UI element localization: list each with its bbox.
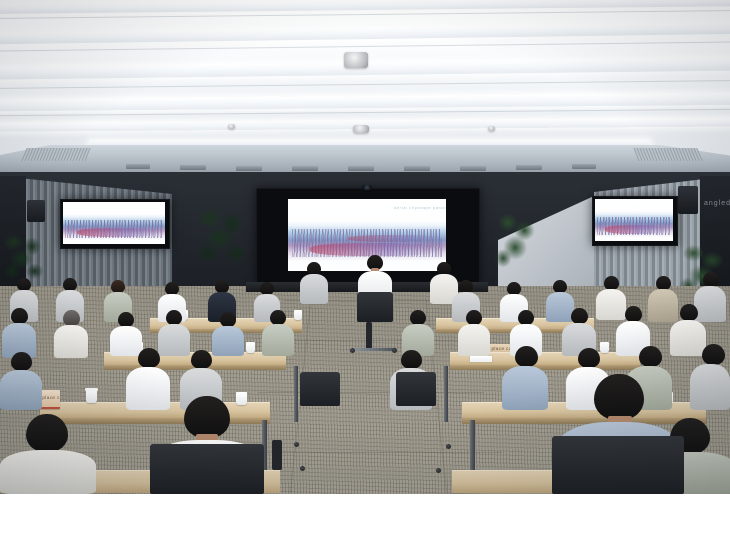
right-display-screen[interactable] bbox=[595, 199, 673, 241]
ceiling-sprinkler-right bbox=[488, 126, 495, 131]
ceiling-vent-left bbox=[21, 148, 90, 161]
right-plant-icon bbox=[494, 208, 540, 274]
head bbox=[138, 348, 160, 368]
attendee-r3-10 bbox=[54, 310, 88, 358]
left-display-screen[interactable] bbox=[63, 202, 165, 244]
attendee-r1-2 bbox=[300, 262, 328, 304]
main-display-highway bbox=[348, 235, 444, 242]
ceiling-smoke-detector bbox=[344, 52, 368, 68]
ceiling-sprinkler-left bbox=[228, 124, 235, 129]
head bbox=[118, 312, 134, 327]
right-display-river bbox=[605, 225, 667, 234]
conference-room-photo: aerial cityscape panorama over water ang… bbox=[0, 0, 730, 494]
slot-diffuser-4 bbox=[292, 166, 318, 171]
head bbox=[703, 272, 719, 287]
attendee-r5-3 bbox=[0, 414, 96, 494]
left-display-river bbox=[77, 228, 159, 237]
attendee-r4-5 bbox=[502, 346, 548, 410]
slot-diffuser-6 bbox=[404, 166, 430, 171]
chair-caster bbox=[350, 348, 355, 353]
head bbox=[11, 352, 32, 371]
attendee-r4-1 bbox=[0, 352, 42, 410]
cup bbox=[86, 390, 97, 403]
head bbox=[220, 312, 236, 327]
slot-diffuser-7 bbox=[460, 166, 486, 171]
head bbox=[401, 350, 422, 369]
desk-caster bbox=[294, 442, 299, 447]
torso bbox=[0, 370, 42, 410]
head bbox=[625, 306, 642, 322]
head bbox=[191, 350, 212, 369]
head bbox=[11, 308, 28, 324]
head bbox=[680, 304, 698, 321]
slot-diffuser-3 bbox=[236, 166, 262, 171]
chair[interactable] bbox=[552, 436, 684, 494]
chair[interactable] bbox=[300, 372, 340, 406]
desk-caster bbox=[446, 444, 451, 449]
torso bbox=[458, 324, 490, 356]
head bbox=[578, 348, 600, 368]
head bbox=[571, 308, 588, 324]
torso bbox=[690, 364, 730, 410]
handout bbox=[470, 356, 492, 362]
slot-diffuser-5 bbox=[348, 166, 374, 171]
slot-diffuser-9 bbox=[572, 164, 596, 169]
chair[interactable] bbox=[396, 372, 436, 406]
chair-caster bbox=[300, 466, 305, 471]
presenter-chair-base bbox=[366, 322, 372, 350]
torso bbox=[502, 366, 548, 410]
desk-leg bbox=[444, 366, 448, 422]
chair[interactable] bbox=[150, 444, 264, 494]
cup-lid bbox=[85, 388, 98, 391]
cup bbox=[294, 310, 302, 320]
page-background bbox=[0, 494, 730, 548]
desk-leg bbox=[294, 366, 298, 422]
presenter-chair[interactable] bbox=[357, 292, 393, 322]
head bbox=[63, 310, 80, 326]
screen-camera-icon bbox=[362, 185, 372, 190]
torso bbox=[262, 324, 294, 356]
attendee-r3-11 bbox=[2, 308, 36, 358]
ceiling-vent-right bbox=[633, 148, 702, 161]
right-wall-speaker bbox=[678, 186, 698, 214]
head bbox=[639, 346, 662, 367]
slot-diffuser-2 bbox=[180, 165, 206, 170]
head bbox=[166, 310, 182, 325]
slot-diffuser-8 bbox=[516, 165, 542, 170]
head bbox=[410, 310, 426, 325]
head bbox=[518, 310, 534, 325]
torso bbox=[54, 325, 88, 358]
head bbox=[515, 346, 538, 367]
head bbox=[594, 374, 644, 420]
main-display-watermark: aerial cityscape panorama over water bbox=[394, 205, 446, 210]
cup bbox=[246, 342, 255, 353]
ceiling-projector-mount bbox=[353, 125, 369, 133]
head bbox=[702, 344, 725, 365]
screenshot-root: aerial cityscape panorama over water ang… bbox=[0, 0, 730, 548]
attendee-r3-6 bbox=[458, 310, 490, 356]
head bbox=[604, 276, 619, 290]
attendee-r4-8 bbox=[690, 344, 730, 410]
attendee-r3-4 bbox=[262, 310, 294, 356]
slot-diffuser-1 bbox=[126, 164, 150, 169]
torso bbox=[300, 274, 328, 304]
head bbox=[466, 310, 482, 325]
chair-caster bbox=[436, 468, 441, 473]
chair-base bbox=[272, 440, 282, 470]
head bbox=[270, 310, 286, 325]
carpet-seam-3 bbox=[258, 392, 484, 393]
torso bbox=[0, 450, 96, 494]
desk-leg bbox=[470, 420, 475, 476]
head bbox=[26, 414, 68, 452]
center-left-plant-icon bbox=[196, 206, 250, 274]
head bbox=[656, 276, 671, 290]
right-wall-sign: angled light gray panel bbox=[704, 200, 730, 207]
head bbox=[184, 396, 230, 438]
left-wall-speaker bbox=[27, 200, 45, 222]
